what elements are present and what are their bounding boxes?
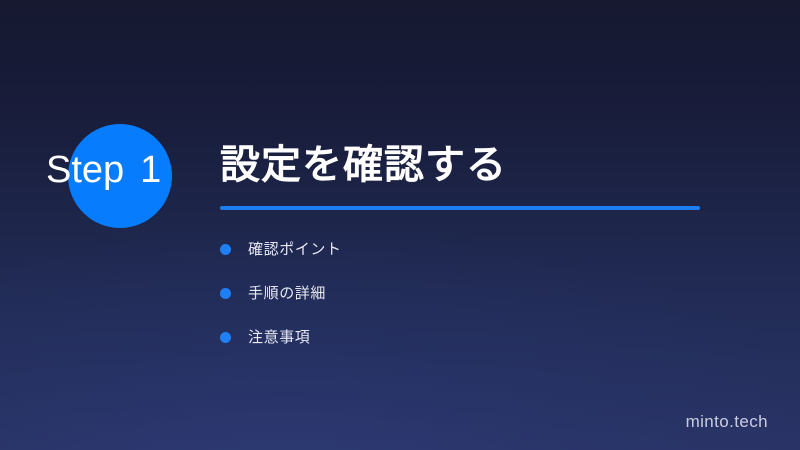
list-item-label: 確認ポイント: [248, 242, 342, 257]
list-item-label: 注意事項: [248, 330, 310, 345]
list-item: 注意事項: [220, 324, 680, 350]
title-divider: [220, 206, 700, 210]
page-title: 設定を確認する: [220, 142, 720, 189]
list-item: 手順の詳細: [220, 280, 680, 306]
bullet-dot-icon: [220, 244, 231, 255]
bullet-dot-icon: [220, 288, 231, 299]
title-block: 設定を確認する: [220, 142, 720, 210]
bullet-list: 確認ポイント 手順の詳細 注意事項: [220, 236, 680, 350]
bullet-dot-icon: [220, 332, 231, 343]
step-badge-label: Step1: [46, 151, 162, 189]
list-item: 確認ポイント: [220, 236, 680, 262]
slide-canvas: Step1 設定を確認する 確認ポイント 手順の詳細 注意事項 minto.te…: [0, 0, 800, 450]
step-number: 1: [140, 149, 162, 191]
list-item-label: 手順の詳細: [248, 286, 326, 301]
step-word: Step: [46, 149, 124, 191]
watermark: minto.tech: [686, 412, 768, 432]
